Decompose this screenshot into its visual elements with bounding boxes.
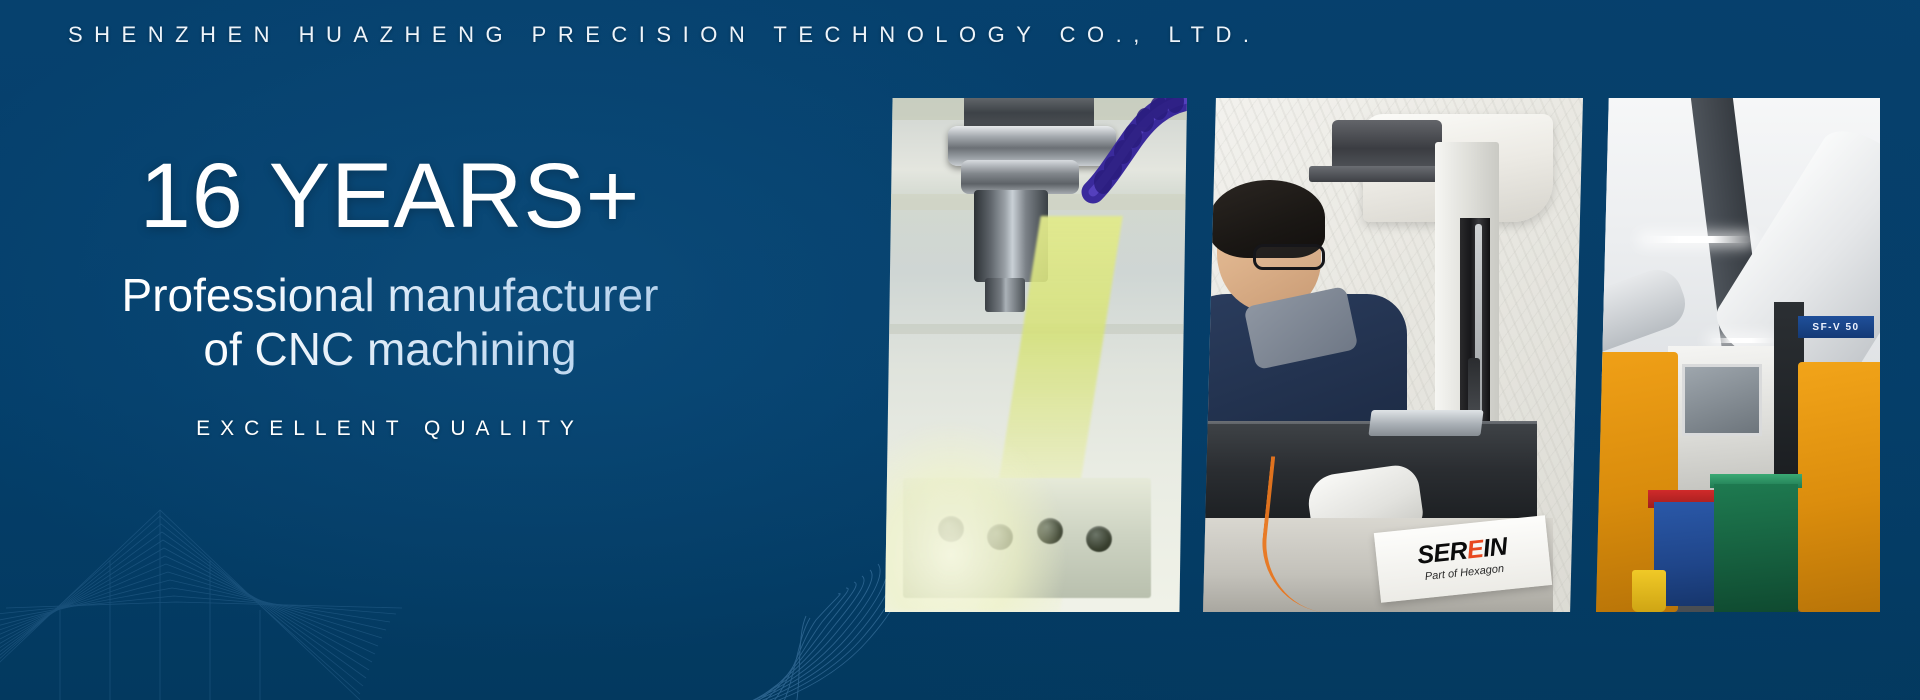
factory-workshop-photo: SF-V 50 <box>1596 98 1880 612</box>
wireframe-mountain-decoration <box>0 450 480 700</box>
cnc-machining-image <box>885 98 1187 612</box>
hero-banner: SHENZHEN HUAZHENG PRECISION TECHNOLOGY C… <box>0 0 1920 700</box>
tool-cart-green <box>1714 484 1798 612</box>
hero-tagline: EXCELLENT QUALITY <box>0 417 780 441</box>
cnc-machining-photo <box>885 98 1187 612</box>
coolant-splash <box>885 422 1065 612</box>
cmm-inspection-photo: SEREIN Part of Hexagon <box>1203 98 1583 612</box>
hero-subtitle: Professional manufacturer of CNC machini… <box>0 268 780 377</box>
ceiling-light <box>1641 236 1751 243</box>
cutting-tool <box>985 278 1025 312</box>
company-name-heading: SHENZHEN HUAZHENG PRECISION TECHNOLOGY C… <box>68 22 1261 48</box>
yellow-bucket <box>1632 570 1666 612</box>
machine-label-sign: SF-V 50 <box>1798 316 1874 338</box>
coolant-hose <box>1033 98 1187 232</box>
factory-workshop-image: SF-V 50 <box>1596 98 1880 612</box>
cmm-inspection-image: SEREIN Part of Hexagon <box>1203 98 1583 612</box>
page-title: 16 YEARS+ <box>0 150 780 242</box>
safety-glasses <box>1253 244 1325 270</box>
ceiling-light <box>1710 338 1774 343</box>
hero-subtitle-line-1: Professional manufacturer <box>122 269 659 321</box>
hero-copy-block: 16 YEARS+ Professional manufacturer of C… <box>0 150 780 441</box>
machine-window <box>1682 364 1762 436</box>
cmm-bridge <box>1332 120 1442 172</box>
hero-subtitle-line-2: of CNC machining <box>0 322 780 376</box>
serein-e-highlight: E <box>1465 535 1484 565</box>
inspected-workpiece <box>1369 410 1484 436</box>
workpiece-hole <box>1086 526 1112 552</box>
cnc-machine-right <box>1798 362 1880 612</box>
